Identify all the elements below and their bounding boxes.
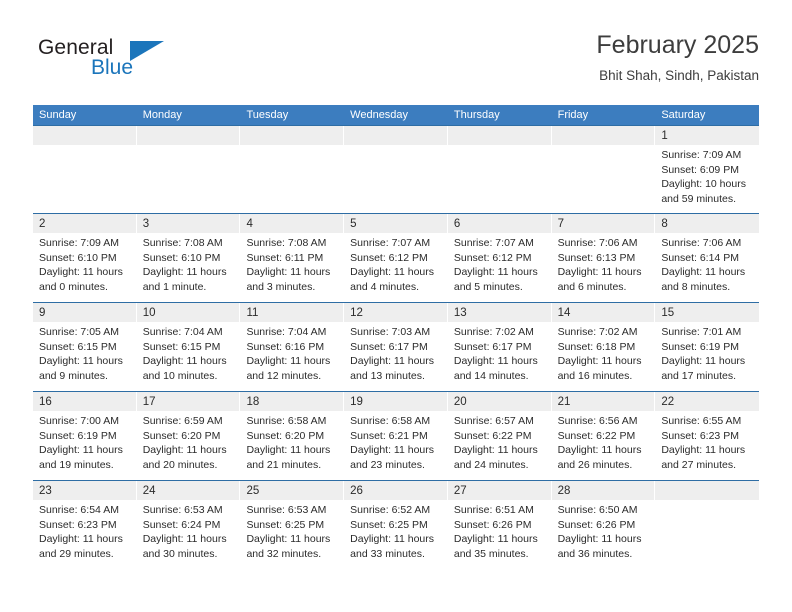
weekday-header-wednesday: Wednesday <box>344 105 448 125</box>
day-details: Sunrise: 6:55 AMSunset: 6:23 PMDaylight:… <box>655 411 759 472</box>
day-number-band: 19 <box>344 392 448 411</box>
day-number-band: 26 <box>344 481 448 500</box>
day-number-band: 4 <box>240 214 344 233</box>
calendar-week-row: 1Sunrise: 7:09 AMSunset: 6:09 PMDaylight… <box>33 125 759 213</box>
day-details: Sunrise: 7:04 AMSunset: 6:15 PMDaylight:… <box>137 322 241 383</box>
calendar-page: General Blue February 2025 Bhit Shah, Si… <box>0 0 792 612</box>
daylight-text: Daylight: 11 hours and 35 minutes. <box>454 532 546 561</box>
sunset-text: Sunset: 6:26 PM <box>454 518 546 533</box>
sunrise-text: Sunrise: 7:09 AM <box>661 148 753 163</box>
day-number-band: 1 <box>655 126 759 145</box>
day-number-band: 15 <box>655 303 759 322</box>
calendar-day-cell-empty <box>240 126 344 213</box>
day-number-band: 17 <box>137 392 241 411</box>
day-details: Sunrise: 7:03 AMSunset: 6:17 PMDaylight:… <box>344 322 448 383</box>
day-number: 13 <box>454 307 467 319</box>
weekday-header-sunday: Sunday <box>33 105 137 125</box>
day-number-band: 16 <box>33 392 137 411</box>
sunrise-text: Sunrise: 6:57 AM <box>454 414 546 429</box>
sunrise-text: Sunrise: 6:59 AM <box>143 414 235 429</box>
calendar-day-cell[interactable]: 17Sunrise: 6:59 AMSunset: 6:20 PMDayligh… <box>137 392 241 480</box>
page-subtitle: Bhit Shah, Sindh, Pakistan <box>596 66 759 86</box>
day-number: 27 <box>454 485 467 497</box>
calendar-grid: Sunday Monday Tuesday Wednesday Thursday… <box>33 105 759 569</box>
daylight-text: Daylight: 11 hours and 12 minutes. <box>246 354 338 383</box>
calendar-day-cell[interactable]: 8Sunrise: 7:06 AMSunset: 6:14 PMDaylight… <box>655 214 759 302</box>
daylight-text: Daylight: 11 hours and 30 minutes. <box>143 532 235 561</box>
calendar-day-cell[interactable]: 27Sunrise: 6:51 AMSunset: 6:26 PMDayligh… <box>448 481 552 569</box>
day-number-band: 20 <box>448 392 552 411</box>
day-number: 3 <box>143 218 149 230</box>
calendar-day-cell[interactable]: 25Sunrise: 6:53 AMSunset: 6:25 PMDayligh… <box>240 481 344 569</box>
day-number-band: 10 <box>137 303 241 322</box>
sunset-text: Sunset: 6:12 PM <box>454 251 546 266</box>
sunrise-text: Sunrise: 7:04 AM <box>143 325 235 340</box>
triangle-icon <box>130 41 164 61</box>
sunset-text: Sunset: 6:21 PM <box>350 429 442 444</box>
day-details: Sunrise: 7:01 AMSunset: 6:19 PMDaylight:… <box>655 322 759 383</box>
day-details: Sunrise: 7:06 AMSunset: 6:13 PMDaylight:… <box>552 233 656 294</box>
day-details: Sunrise: 7:08 AMSunset: 6:10 PMDaylight:… <box>137 233 241 294</box>
calendar-week-row: 23Sunrise: 6:54 AMSunset: 6:23 PMDayligh… <box>33 480 759 569</box>
daylight-text: Daylight: 11 hours and 24 minutes. <box>454 443 546 472</box>
sunset-text: Sunset: 6:15 PM <box>143 340 235 355</box>
day-number: 4 <box>246 218 252 230</box>
day-number: 18 <box>246 396 259 408</box>
calendar-week-row: 2Sunrise: 7:09 AMSunset: 6:10 PMDaylight… <box>33 213 759 302</box>
sunset-text: Sunset: 6:09 PM <box>661 163 753 178</box>
day-details: Sunrise: 6:59 AMSunset: 6:20 PMDaylight:… <box>137 411 241 472</box>
calendar-day-cell[interactable]: 20Sunrise: 6:57 AMSunset: 6:22 PMDayligh… <box>448 392 552 480</box>
sunset-text: Sunset: 6:15 PM <box>39 340 131 355</box>
sunrise-text: Sunrise: 7:02 AM <box>558 325 650 340</box>
sunset-text: Sunset: 6:18 PM <box>558 340 650 355</box>
sunrise-text: Sunrise: 6:54 AM <box>39 503 131 518</box>
sunrise-text: Sunrise: 7:09 AM <box>39 236 131 251</box>
day-details: Sunrise: 7:09 AMSunset: 6:09 PMDaylight:… <box>655 145 759 206</box>
daylight-text: Daylight: 11 hours and 16 minutes. <box>558 354 650 383</box>
sunset-text: Sunset: 6:20 PM <box>143 429 235 444</box>
day-number-band <box>240 126 344 145</box>
calendar-day-cell[interactable]: 4Sunrise: 7:08 AMSunset: 6:11 PMDaylight… <box>240 214 344 302</box>
calendar-day-cell[interactable]: 7Sunrise: 7:06 AMSunset: 6:13 PMDaylight… <box>552 214 656 302</box>
general-blue-logo[interactable]: General Blue <box>38 36 208 88</box>
sunset-text: Sunset: 6:17 PM <box>350 340 442 355</box>
day-details: Sunrise: 6:50 AMSunset: 6:26 PMDaylight:… <box>552 500 656 561</box>
daylight-text: Daylight: 11 hours and 9 minutes. <box>39 354 131 383</box>
day-number: 11 <box>246 307 258 319</box>
sunset-text: Sunset: 6:26 PM <box>558 518 650 533</box>
day-number-band: 6 <box>448 214 552 233</box>
calendar-day-cell[interactable]: 5Sunrise: 7:07 AMSunset: 6:12 PMDaylight… <box>344 214 448 302</box>
day-number: 7 <box>558 218 564 230</box>
day-number: 1 <box>661 130 667 142</box>
day-number-band: 11 <box>240 303 344 322</box>
day-number: 22 <box>661 396 674 408</box>
calendar-day-cell[interactable]: 1Sunrise: 7:09 AMSunset: 6:09 PMDaylight… <box>655 126 759 213</box>
day-details: Sunrise: 6:54 AMSunset: 6:23 PMDaylight:… <box>33 500 137 561</box>
day-details: Sunrise: 6:52 AMSunset: 6:25 PMDaylight:… <box>344 500 448 561</box>
sunrise-text: Sunrise: 7:06 AM <box>661 236 753 251</box>
day-number-band: 14 <box>552 303 656 322</box>
day-number-band: 25 <box>240 481 344 500</box>
calendar-day-cell[interactable]: 22Sunrise: 6:55 AMSunset: 6:23 PMDayligh… <box>655 392 759 480</box>
daylight-text: Daylight: 11 hours and 3 minutes. <box>246 265 338 294</box>
day-number-band: 12 <box>344 303 448 322</box>
day-details: Sunrise: 6:56 AMSunset: 6:22 PMDaylight:… <box>552 411 656 472</box>
daylight-text: Daylight: 10 hours and 59 minutes. <box>661 177 753 206</box>
calendar-weeks: 1Sunrise: 7:09 AMSunset: 6:09 PMDaylight… <box>33 125 759 569</box>
logo-text-blue: Blue <box>91 56 133 80</box>
calendar-day-cell[interactable]: 6Sunrise: 7:07 AMSunset: 6:12 PMDaylight… <box>448 214 552 302</box>
day-number-band: 22 <box>655 392 759 411</box>
title-block: February 2025 Bhit Shah, Sindh, Pakistan <box>596 30 759 86</box>
sunset-text: Sunset: 6:25 PM <box>246 518 338 533</box>
day-number: 2 <box>39 218 45 230</box>
day-number-band: 7 <box>552 214 656 233</box>
day-details: Sunrise: 7:02 AMSunset: 6:17 PMDaylight:… <box>448 322 552 383</box>
daylight-text: Daylight: 11 hours and 10 minutes. <box>143 354 235 383</box>
daylight-text: Daylight: 11 hours and 27 minutes. <box>661 443 753 472</box>
sunset-text: Sunset: 6:14 PM <box>661 251 753 266</box>
day-number-band: 21 <box>552 392 656 411</box>
calendar-day-cell[interactable]: 24Sunrise: 6:53 AMSunset: 6:24 PMDayligh… <box>137 481 241 569</box>
calendar-day-cell-empty <box>552 126 656 213</box>
sunrise-text: Sunrise: 6:58 AM <box>350 414 442 429</box>
day-number-band: 9 <box>33 303 137 322</box>
sunrise-text: Sunrise: 7:07 AM <box>350 236 442 251</box>
day-details: Sunrise: 7:08 AMSunset: 6:11 PMDaylight:… <box>240 233 344 294</box>
day-number: 10 <box>143 307 156 319</box>
daylight-text: Daylight: 11 hours and 33 minutes. <box>350 532 442 561</box>
weekday-header-friday: Friday <box>552 105 656 125</box>
daylight-text: Daylight: 11 hours and 19 minutes. <box>39 443 131 472</box>
calendar-day-cell-empty <box>344 126 448 213</box>
day-number: 20 <box>454 396 467 408</box>
calendar-day-cell[interactable]: 2Sunrise: 7:09 AMSunset: 6:10 PMDaylight… <box>33 214 137 302</box>
sunrise-text: Sunrise: 6:53 AM <box>246 503 338 518</box>
calendar-day-cell[interactable]: 16Sunrise: 7:00 AMSunset: 6:19 PMDayligh… <box>33 392 137 480</box>
day-number: 21 <box>558 396 571 408</box>
daylight-text: Daylight: 11 hours and 21 minutes. <box>246 443 338 472</box>
calendar-day-cell[interactable]: 23Sunrise: 6:54 AMSunset: 6:23 PMDayligh… <box>33 481 137 569</box>
day-number-band: 2 <box>33 214 137 233</box>
daylight-text: Daylight: 11 hours and 0 minutes. <box>39 265 131 294</box>
day-number: 28 <box>558 485 571 497</box>
sunrise-text: Sunrise: 6:55 AM <box>661 414 753 429</box>
calendar-day-cell-empty <box>33 126 137 213</box>
calendar-day-cell[interactable]: 28Sunrise: 6:50 AMSunset: 6:26 PMDayligh… <box>552 481 656 569</box>
day-number: 25 <box>246 485 259 497</box>
sunset-text: Sunset: 6:12 PM <box>350 251 442 266</box>
day-details: Sunrise: 6:58 AMSunset: 6:20 PMDaylight:… <box>240 411 344 472</box>
day-number-band: 5 <box>344 214 448 233</box>
day-details: Sunrise: 7:02 AMSunset: 6:18 PMDaylight:… <box>552 322 656 383</box>
daylight-text: Daylight: 11 hours and 23 minutes. <box>350 443 442 472</box>
calendar-day-cell-empty <box>448 126 552 213</box>
daylight-text: Daylight: 11 hours and 26 minutes. <box>558 443 650 472</box>
sunrise-text: Sunrise: 7:03 AM <box>350 325 442 340</box>
sunrise-text: Sunrise: 6:51 AM <box>454 503 546 518</box>
day-number-band: 8 <box>655 214 759 233</box>
sunset-text: Sunset: 6:16 PM <box>246 340 338 355</box>
sunset-text: Sunset: 6:10 PM <box>143 251 235 266</box>
day-number: 26 <box>350 485 363 497</box>
sunrise-text: Sunrise: 7:07 AM <box>454 236 546 251</box>
day-details: Sunrise: 7:05 AMSunset: 6:15 PMDaylight:… <box>33 322 137 383</box>
day-number-band <box>137 126 241 145</box>
sunset-text: Sunset: 6:19 PM <box>39 429 131 444</box>
daylight-text: Daylight: 11 hours and 8 minutes. <box>661 265 753 294</box>
calendar-day-cell[interactable]: 3Sunrise: 7:08 AMSunset: 6:10 PMDaylight… <box>137 214 241 302</box>
calendar-day-cell-empty <box>655 481 759 569</box>
calendar-week-row: 16Sunrise: 7:00 AMSunset: 6:19 PMDayligh… <box>33 391 759 480</box>
weekday-header-row: Sunday Monday Tuesday Wednesday Thursday… <box>33 105 759 125</box>
day-number-band <box>33 126 137 145</box>
day-number: 16 <box>39 396 52 408</box>
calendar-day-cell[interactable]: 11Sunrise: 7:04 AMSunset: 6:16 PMDayligh… <box>240 303 344 391</box>
sunset-text: Sunset: 6:22 PM <box>558 429 650 444</box>
weekday-header-tuesday: Tuesday <box>240 105 344 125</box>
weekday-header-monday: Monday <box>137 105 241 125</box>
day-number: 17 <box>143 396 156 408</box>
day-number: 19 <box>350 396 363 408</box>
sunset-text: Sunset: 6:20 PM <box>246 429 338 444</box>
daylight-text: Daylight: 11 hours and 14 minutes. <box>454 354 546 383</box>
daylight-text: Daylight: 11 hours and 36 minutes. <box>558 532 650 561</box>
day-number: 8 <box>661 218 667 230</box>
sunset-text: Sunset: 6:10 PM <box>39 251 131 266</box>
day-details: Sunrise: 6:53 AMSunset: 6:25 PMDaylight:… <box>240 500 344 561</box>
day-number-band <box>655 481 759 500</box>
sunrise-text: Sunrise: 7:02 AM <box>454 325 546 340</box>
page-header: General Blue February 2025 Bhit Shah, Si… <box>33 30 759 92</box>
calendar-day-cell[interactable]: 26Sunrise: 6:52 AMSunset: 6:25 PMDayligh… <box>344 481 448 569</box>
day-details: Sunrise: 6:58 AMSunset: 6:21 PMDaylight:… <box>344 411 448 472</box>
calendar-day-cell[interactable]: 15Sunrise: 7:01 AMSunset: 6:19 PMDayligh… <box>655 303 759 391</box>
daylight-text: Daylight: 11 hours and 29 minutes. <box>39 532 131 561</box>
calendar-day-cell[interactable]: 9Sunrise: 7:05 AMSunset: 6:15 PMDaylight… <box>33 303 137 391</box>
day-number-band: 27 <box>448 481 552 500</box>
day-details: Sunrise: 7:06 AMSunset: 6:14 PMDaylight:… <box>655 233 759 294</box>
sunrise-text: Sunrise: 6:56 AM <box>558 414 650 429</box>
day-number-band: 18 <box>240 392 344 411</box>
day-details: Sunrise: 7:04 AMSunset: 6:16 PMDaylight:… <box>240 322 344 383</box>
calendar-day-cell[interactable]: 21Sunrise: 6:56 AMSunset: 6:22 PMDayligh… <box>552 392 656 480</box>
daylight-text: Daylight: 11 hours and 4 minutes. <box>350 265 442 294</box>
sunset-text: Sunset: 6:11 PM <box>246 251 338 266</box>
weekday-header-thursday: Thursday <box>448 105 552 125</box>
day-number: 9 <box>39 307 45 319</box>
day-details: Sunrise: 7:09 AMSunset: 6:10 PMDaylight:… <box>33 233 137 294</box>
sunrise-text: Sunrise: 7:06 AM <box>558 236 650 251</box>
daylight-text: Daylight: 11 hours and 17 minutes. <box>661 354 753 383</box>
sunrise-text: Sunrise: 7:01 AM <box>661 325 753 340</box>
day-details: Sunrise: 7:00 AMSunset: 6:19 PMDaylight:… <box>33 411 137 472</box>
sunrise-text: Sunrise: 7:08 AM <box>246 236 338 251</box>
day-number: 24 <box>143 485 156 497</box>
day-number-band: 24 <box>137 481 241 500</box>
day-details: Sunrise: 6:53 AMSunset: 6:24 PMDaylight:… <box>137 500 241 561</box>
calendar-day-cell[interactable]: 19Sunrise: 6:58 AMSunset: 6:21 PMDayligh… <box>344 392 448 480</box>
sunset-text: Sunset: 6:22 PM <box>454 429 546 444</box>
day-number: 12 <box>350 307 363 319</box>
sunrise-text: Sunrise: 7:00 AM <box>39 414 131 429</box>
sunset-text: Sunset: 6:17 PM <box>454 340 546 355</box>
sunset-text: Sunset: 6:25 PM <box>350 518 442 533</box>
daylight-text: Daylight: 11 hours and 13 minutes. <box>350 354 442 383</box>
day-details: Sunrise: 7:07 AMSunset: 6:12 PMDaylight:… <box>448 233 552 294</box>
weekday-header-saturday: Saturday <box>655 105 759 125</box>
day-number-band: 23 <box>33 481 137 500</box>
day-number: 15 <box>661 307 674 319</box>
day-number-band <box>448 126 552 145</box>
day-number: 5 <box>350 218 356 230</box>
sunset-text: Sunset: 6:23 PM <box>661 429 753 444</box>
sunrise-text: Sunrise: 6:58 AM <box>246 414 338 429</box>
sunset-text: Sunset: 6:23 PM <box>39 518 131 533</box>
calendar-week-row: 9Sunrise: 7:05 AMSunset: 6:15 PMDaylight… <box>33 302 759 391</box>
daylight-text: Daylight: 11 hours and 20 minutes. <box>143 443 235 472</box>
sunset-text: Sunset: 6:13 PM <box>558 251 650 266</box>
day-number-band: 3 <box>137 214 241 233</box>
day-details: Sunrise: 7:07 AMSunset: 6:12 PMDaylight:… <box>344 233 448 294</box>
sunrise-text: Sunrise: 7:08 AM <box>143 236 235 251</box>
calendar-day-cell[interactable]: 18Sunrise: 6:58 AMSunset: 6:20 PMDayligh… <box>240 392 344 480</box>
calendar-day-cell-empty <box>137 126 241 213</box>
daylight-text: Daylight: 11 hours and 5 minutes. <box>454 265 546 294</box>
day-number-band: 13 <box>448 303 552 322</box>
daylight-text: Daylight: 11 hours and 32 minutes. <box>246 532 338 561</box>
day-number: 23 <box>39 485 52 497</box>
sunrise-text: Sunrise: 7:05 AM <box>39 325 131 340</box>
calendar-day-cell[interactable]: 10Sunrise: 7:04 AMSunset: 6:15 PMDayligh… <box>137 303 241 391</box>
sunrise-text: Sunrise: 6:53 AM <box>143 503 235 518</box>
day-number-band <box>552 126 656 145</box>
calendar-day-cell[interactable]: 13Sunrise: 7:02 AMSunset: 6:17 PMDayligh… <box>448 303 552 391</box>
sunrise-text: Sunrise: 7:04 AM <box>246 325 338 340</box>
day-details: Sunrise: 6:51 AMSunset: 6:26 PMDaylight:… <box>448 500 552 561</box>
day-number-band: 28 <box>552 481 656 500</box>
day-number: 14 <box>558 307 571 319</box>
sunset-text: Sunset: 6:24 PM <box>143 518 235 533</box>
day-details: Sunrise: 6:57 AMSunset: 6:22 PMDaylight:… <box>448 411 552 472</box>
calendar-day-cell[interactable]: 14Sunrise: 7:02 AMSunset: 6:18 PMDayligh… <box>552 303 656 391</box>
day-number-band <box>344 126 448 145</box>
page-title: February 2025 <box>596 30 759 60</box>
sunrise-text: Sunrise: 6:52 AM <box>350 503 442 518</box>
daylight-text: Daylight: 11 hours and 1 minute. <box>143 265 235 294</box>
calendar-day-cell[interactable]: 12Sunrise: 7:03 AMSunset: 6:17 PMDayligh… <box>344 303 448 391</box>
sunrise-text: Sunrise: 6:50 AM <box>558 503 650 518</box>
day-number: 6 <box>454 218 460 230</box>
daylight-text: Daylight: 11 hours and 6 minutes. <box>558 265 650 294</box>
sunset-text: Sunset: 6:19 PM <box>661 340 753 355</box>
